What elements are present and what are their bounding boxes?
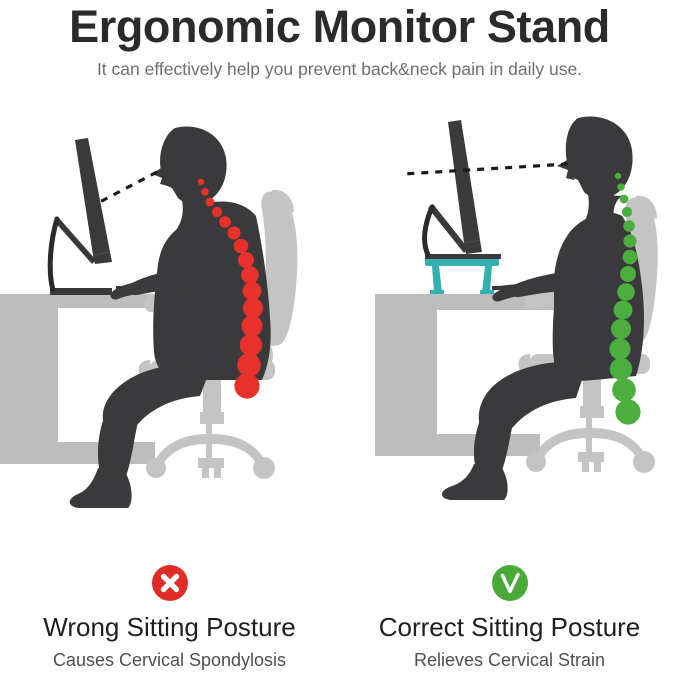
check-circle-icon — [491, 564, 529, 602]
monitor-stand-riser — [425, 257, 499, 294]
header: Ergonomic Monitor Stand It can effective… — [0, 0, 679, 81]
caption-wrong-posture: Wrong Sitting Posture Causes Cervical Sp… — [0, 552, 339, 672]
monitor-stand-rail — [425, 254, 501, 259]
page-title: Ergonomic Monitor Stand — [0, 2, 679, 52]
caption-heading: Wrong Sitting Posture — [0, 612, 339, 642]
caption-subtext: Causes Cervical Spondylosis — [0, 648, 339, 672]
illustration-correct-posture — [340, 112, 679, 512]
illustration-wrong-posture — [0, 112, 340, 512]
caption-subtext: Relieves Cervical Strain — [340, 648, 679, 672]
caption-row: Wrong Sitting Posture Causes Cervical Sp… — [0, 552, 679, 684]
caption-heading: Correct Sitting Posture — [340, 612, 679, 642]
monitor-correct — [425, 120, 482, 255]
illustration-row — [0, 112, 679, 512]
caption-correct-posture: Correct Sitting Posture Relieves Cervica… — [340, 552, 679, 672]
infographic-page: Ergonomic Monitor Stand It can effective… — [0, 0, 679, 684]
sightline-correct — [403, 164, 568, 174]
x-circle-icon — [151, 564, 189, 602]
sightline-wrong — [96, 172, 157, 204]
page-subtitle: It can effectively help you prevent back… — [0, 57, 679, 81]
monitor-wrong — [50, 138, 112, 295]
